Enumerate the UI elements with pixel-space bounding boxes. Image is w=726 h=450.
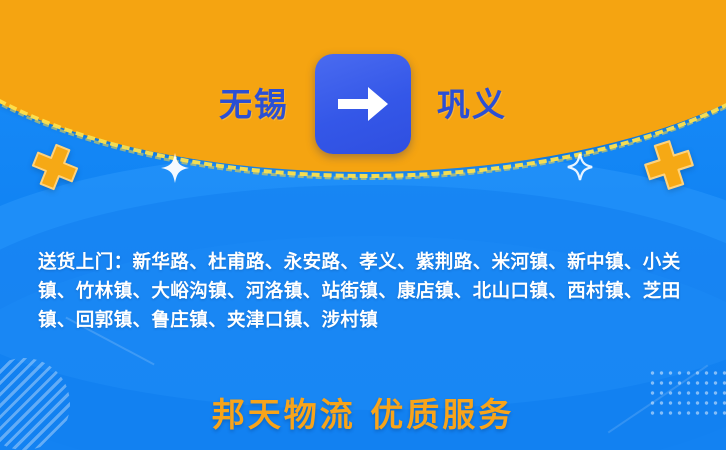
origin-city-label: 无锡	[197, 82, 289, 128]
route-arrow-button[interactable]	[315, 54, 411, 154]
destination-city-label: 巩义	[437, 82, 529, 128]
logistics-banner: 无锡 巩义 送货上门：新华路、杜甫路、永安路、孝义、紫荆路、米河镇、新中镇、小关…	[0, 0, 726, 450]
arrow-right-icon	[334, 81, 392, 127]
company-slogan: 邦天物流 优质服务	[0, 388, 726, 436]
delivery-coverage-text: 送货上门：新华路、杜甫路、永安路、孝义、紫荆路、米河镇、新中镇、小关镇、竹林镇、…	[38, 248, 692, 335]
route-header: 无锡 巩义	[0, 82, 726, 174]
